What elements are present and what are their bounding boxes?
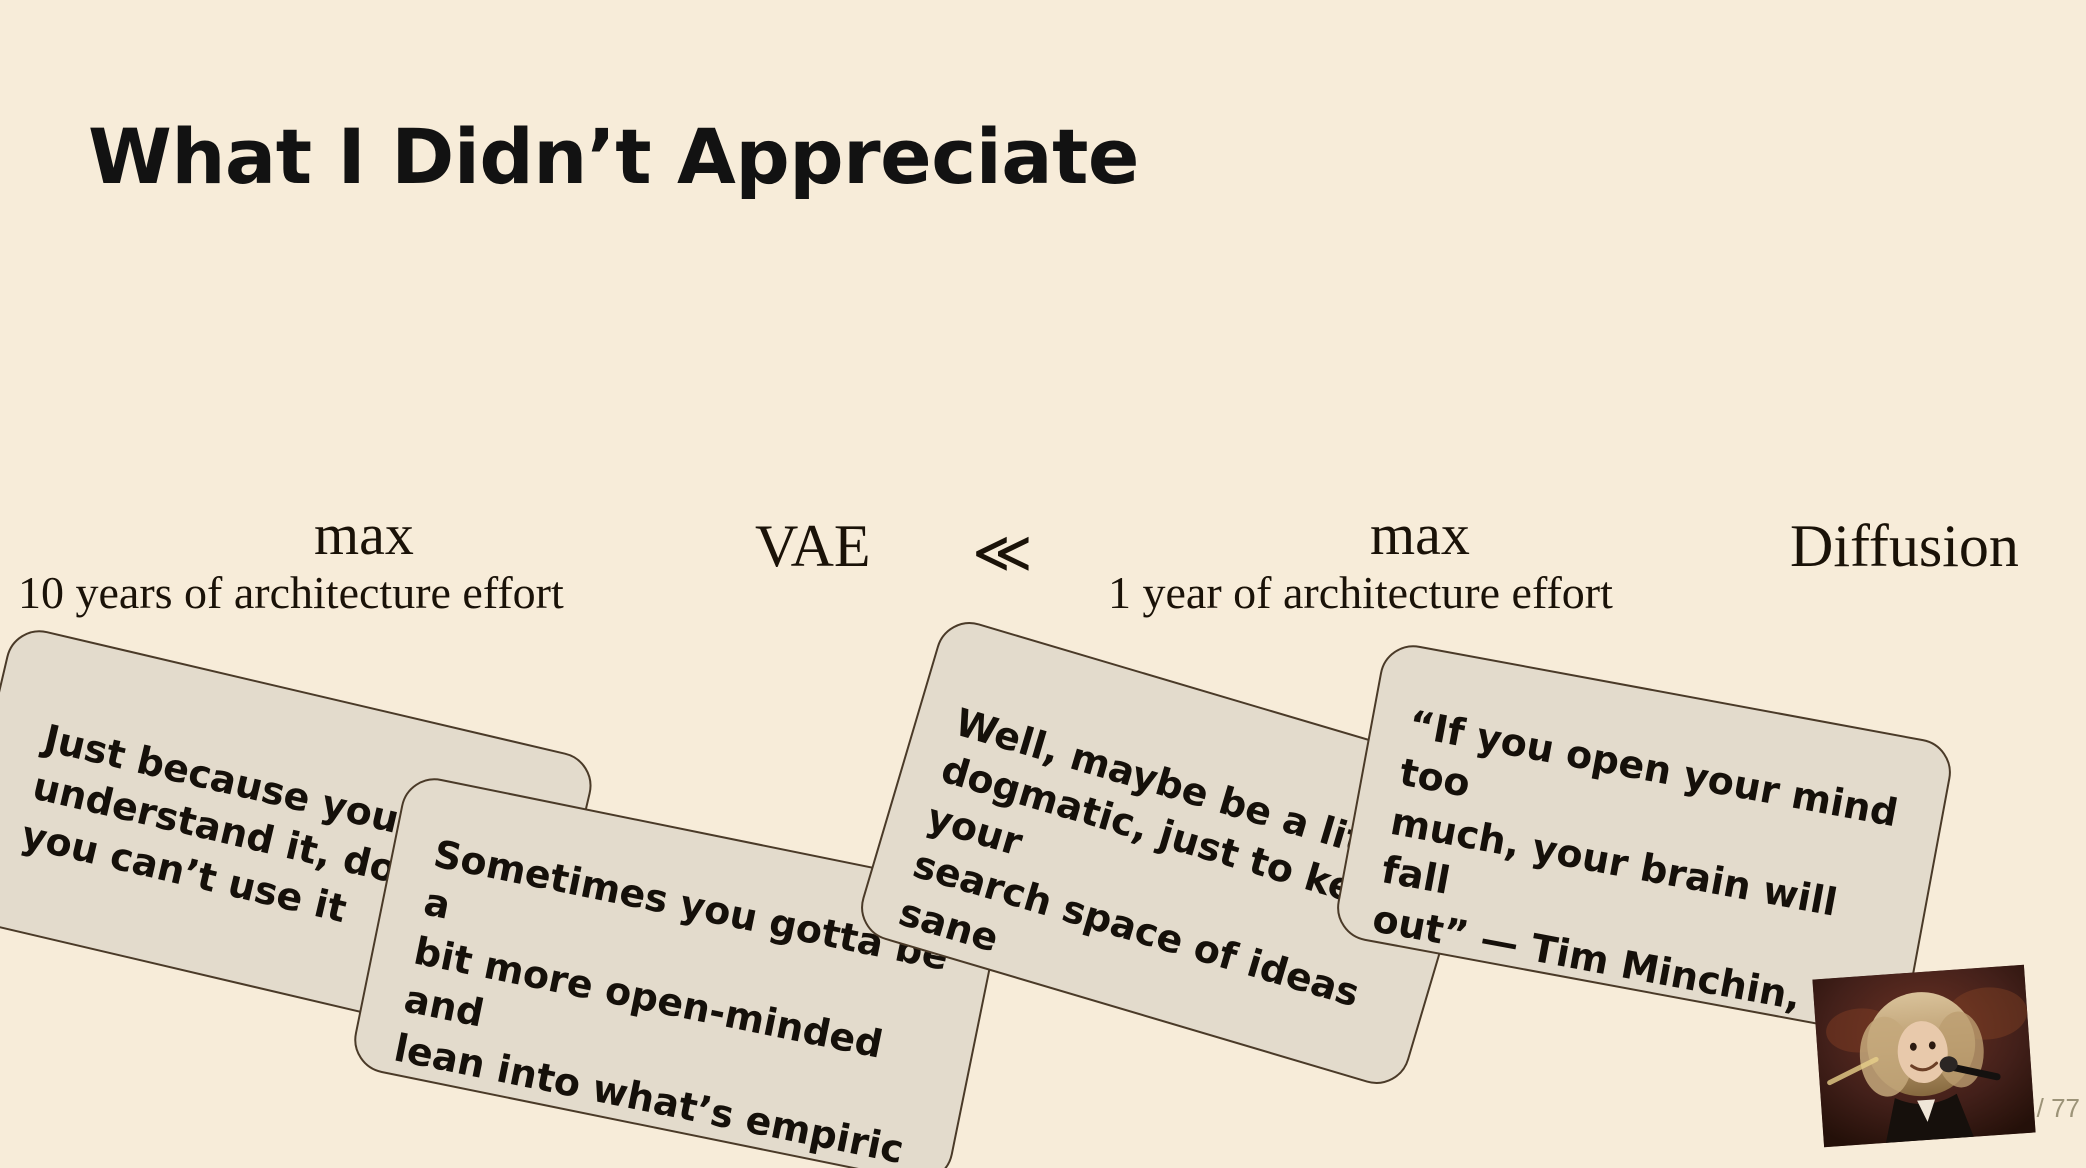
equation-right-operator: max	[1370, 506, 1470, 564]
presentation-slide: What I Didn’t Appreciate max 10 years of…	[0, 0, 2086, 1168]
equation-row: max 10 years of architecture effort VAE …	[0, 500, 2086, 650]
equation-right-label: Diffusion	[1790, 512, 2019, 581]
equation-right-term: max 1 year of architecture effort	[1108, 506, 1613, 616]
equation-left-label: VAE	[755, 512, 871, 581]
equation-right-subscript: 1 year of architecture effort	[1108, 570, 1613, 616]
equation-relation-much-less-than: ≪	[972, 518, 1033, 586]
tim-minchin-photo-image	[1812, 965, 2035, 1147]
equation-left-operator: max	[314, 506, 414, 564]
equation-left-term: max 10 years of architecture effort	[18, 506, 564, 616]
page-title: What I Didn’t Appreciate	[88, 112, 1139, 201]
tim-minchin-photo	[1812, 965, 2035, 1147]
page-counter: / 77	[2037, 1093, 2080, 1124]
equation-left-subscript: 10 years of architecture effort	[18, 570, 564, 616]
